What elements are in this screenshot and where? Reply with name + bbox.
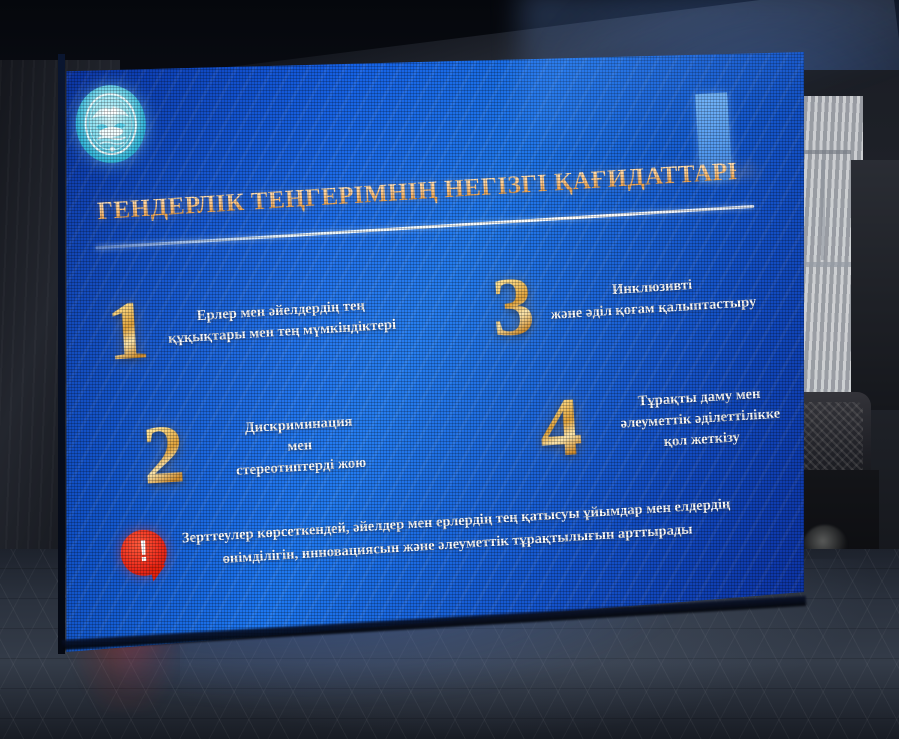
right-dark-panel — [851, 160, 899, 410]
window-sash — [821, 160, 825, 260]
list-item-1-text: Ерлер мен әйелдердің тең құқықтары мен т… — [155, 293, 407, 351]
list-item-3: 3 Инклюзивті және әділ қоғам қалыптастыр… — [490, 253, 766, 347]
led-video-wall: ГЕНДЕРЛІК ТЕҢГЕРІМНІҢ НЕГІЗГІ ҚАҒИДАТТАР… — [62, 52, 804, 652]
numeral-4: 4 — [537, 388, 584, 468]
callout-note: ! Зерттеулер көрсеткендей, әйелдер мен е… — [119, 490, 781, 578]
numeral-1: 1 — [104, 291, 151, 371]
slide-title: ГЕНДЕРЛІК ТЕҢГЕРІМНІҢ НЕГІЗГІ ҚАҒИДАТТАР… — [96, 158, 736, 226]
screen-left-edge — [58, 54, 65, 654]
numeral-3: 3 — [490, 267, 537, 347]
callout-note-text: Зерттеулер көрсеткендей, әйелдер мен ерл… — [181, 493, 732, 574]
slide: ГЕНДЕРЛІК ТЕҢГЕРІМНІҢ НЕГІЗГІ ҚАҒИДАТТАР… — [62, 52, 804, 652]
list-item-4: 4 Тұрақты даму мен әлеуметтік әділеттілі… — [537, 374, 804, 468]
state-emblem-seal — [73, 83, 148, 165]
exclamation-bubble-icon: ! — [119, 529, 168, 578]
list-item-2-text: Дискриминация мен стереотиптерді жою — [191, 408, 410, 484]
exclamation-glyph: ! — [138, 537, 150, 568]
list-item-1: 1 Ерлер мен әйелдердің тең құқықтары мен… — [104, 275, 408, 371]
list-item-4-text: Тұрақты даму мен әлеуметтік әділеттілікк… — [588, 381, 804, 458]
photo-scene: ГЕНДЕРЛІК ТЕҢГЕРІМНІҢ НЕГІЗГІ ҚАҒИДАТТАР… — [0, 0, 899, 739]
numeral-2: 2 — [140, 415, 187, 495]
list-item-2: 2 Дискриминация мен стереотиптерді жою — [140, 401, 409, 495]
list-item-3-text: Инклюзивті және әділ қоғам қалыптастыру — [541, 270, 765, 326]
